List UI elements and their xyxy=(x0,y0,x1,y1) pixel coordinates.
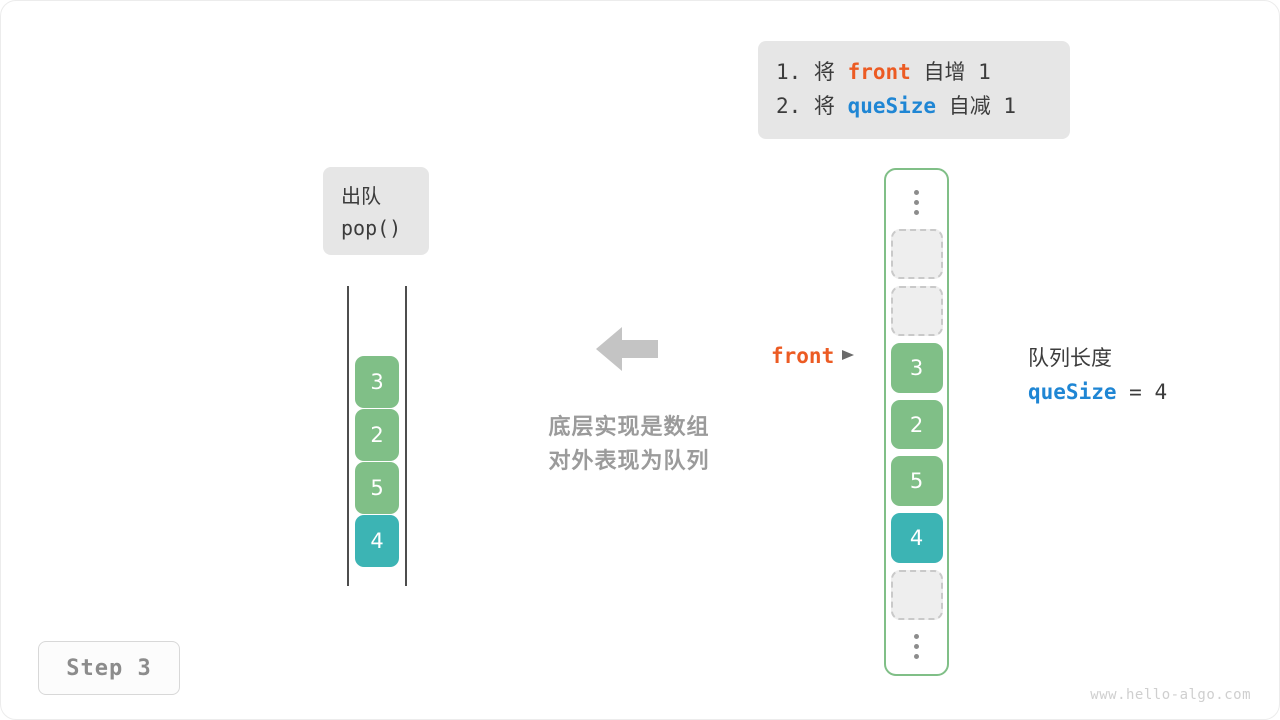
instruction-line-2-suffix: 自减 1 xyxy=(936,94,1016,118)
queue-cell: 3 xyxy=(355,356,399,408)
triangle-right-icon xyxy=(841,347,855,366)
operation-label-title: 出队 xyxy=(341,180,429,212)
quesize-note-expression: queSize = 4 xyxy=(1028,375,1167,409)
center-caption: 底层实现是数组 对外表现为队列 xyxy=(529,411,729,479)
queue-cell: 4 xyxy=(355,515,399,567)
array-slot: 4 xyxy=(891,513,943,563)
instruction-line-1-keyword: front xyxy=(848,60,911,84)
queue-rail-left xyxy=(347,286,349,586)
operation-label-box: 出队 pop() xyxy=(323,167,429,255)
ellipsis-icon xyxy=(891,182,943,222)
center-caption-line-1: 底层实现是数组 xyxy=(529,411,729,445)
array-slot-empty xyxy=(891,570,943,620)
instruction-line-1: 1. 将 front 自增 1 xyxy=(758,55,1070,89)
front-pointer: front xyxy=(771,344,855,368)
array-slot: 2 xyxy=(891,400,943,450)
quesize-note-title: 队列长度 xyxy=(1028,341,1167,375)
physical-array-view: 3254 xyxy=(884,168,949,676)
instruction-box: 1. 将 front 自增 1 2. 将 queSize 自减 1 xyxy=(758,41,1070,139)
instruction-line-1-prefix: 1. 将 xyxy=(776,60,848,84)
array-slot-empty xyxy=(891,229,943,279)
queue-cell: 5 xyxy=(355,462,399,514)
diagram-canvas: 1. 将 front 自增 1 2. 将 queSize 自减 1 出队 pop… xyxy=(0,0,1280,720)
abstract-queue-cells: 3254 xyxy=(355,356,399,568)
abstract-queue-view: 3254 xyxy=(341,286,413,586)
queue-cell: 2 xyxy=(355,409,399,461)
step-badge: Step 3 xyxy=(38,641,180,695)
array-slot-empty xyxy=(891,286,943,336)
step-badge-label: Step 3 xyxy=(66,656,151,681)
operation-label-code: pop() xyxy=(341,212,429,244)
array-slot: 3 xyxy=(891,343,943,393)
instruction-line-1-suffix: 自增 1 xyxy=(911,60,991,84)
instruction-line-2: 2. 将 queSize 自减 1 xyxy=(758,89,1070,123)
watermark: www.hello-algo.com xyxy=(1090,687,1251,703)
instruction-line-2-prefix: 2. 将 xyxy=(776,94,848,118)
center-caption-line-2: 对外表现为队列 xyxy=(529,445,729,479)
instruction-line-2-keyword: queSize xyxy=(848,94,937,118)
arrow-left-icon xyxy=(596,323,658,375)
quesize-note-var: queSize xyxy=(1028,380,1117,404)
front-pointer-label: front xyxy=(771,344,834,368)
quesize-note-value: = 4 xyxy=(1117,380,1168,404)
ellipsis-icon xyxy=(891,627,943,667)
queue-rail-right xyxy=(405,286,407,586)
array-slot: 5 xyxy=(891,456,943,506)
quesize-note: 队列长度 queSize = 4 xyxy=(1028,341,1167,409)
